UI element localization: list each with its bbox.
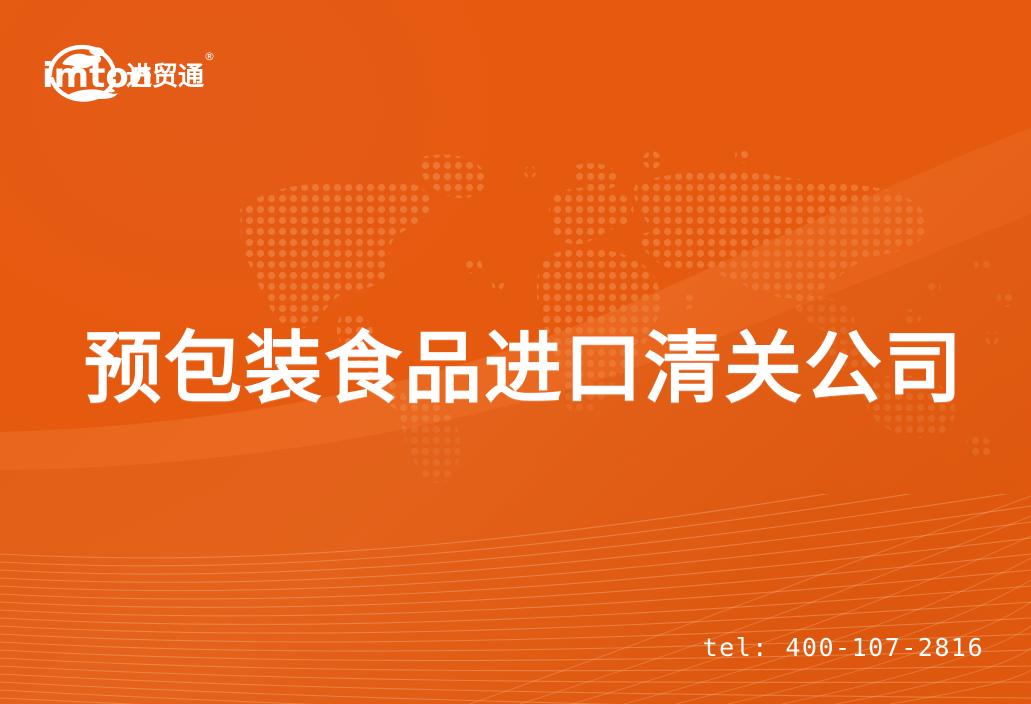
- brand-logo[interactable]: imton 进贸通 ®: [38, 33, 228, 105]
- page-title: 预包装食品进口清关公司: [84, 326, 964, 412]
- registered-trademark-icon: ®: [204, 50, 215, 63]
- logo-chinese-text: 进贸通: [126, 62, 204, 92]
- poster-canvas: imton 进贸通 ® 预包装食品进口清关公司 tel: 400-107-281…: [0, 0, 1031, 704]
- contact-telephone: tel: 400-107-2816: [703, 633, 984, 662]
- dotted-world-map: [222, 138, 1022, 483]
